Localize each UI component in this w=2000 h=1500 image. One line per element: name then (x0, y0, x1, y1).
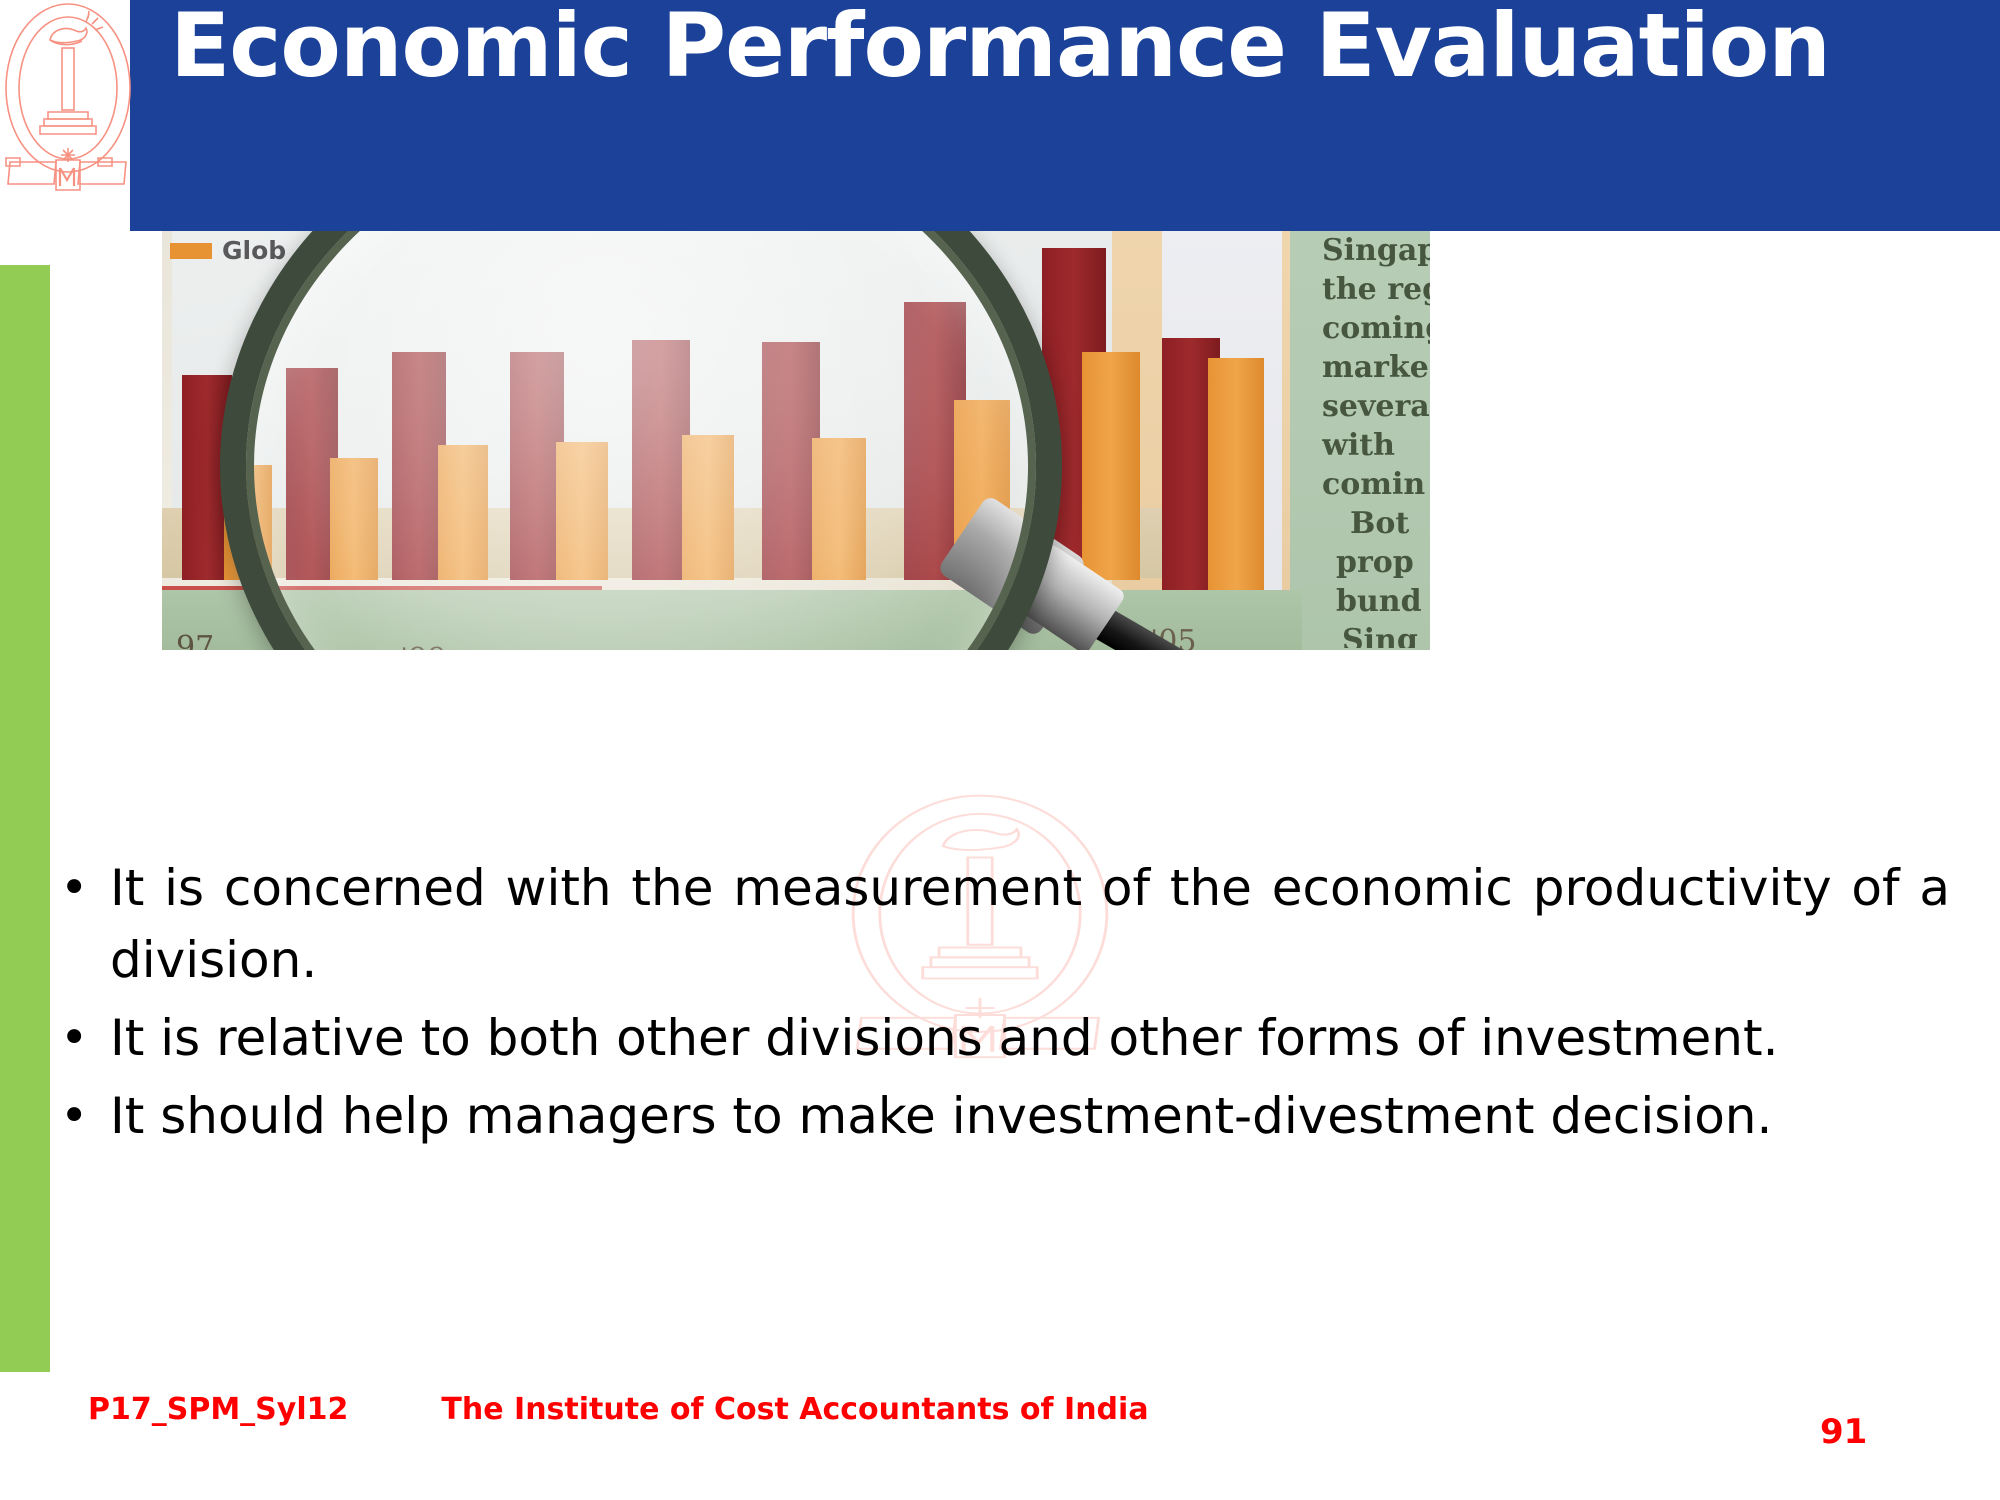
list-item: • It is relative to both other divisions… (52, 1002, 1952, 1074)
news-line-12: Sing (1322, 621, 1430, 648)
page-title-text: Economic Performance Evaluation (170, 0, 1830, 97)
news-line-11: bund (1322, 582, 1430, 621)
news-line-8: comin (1322, 465, 1430, 504)
news-line-3: the reg (1322, 270, 1430, 309)
magnifier-bar-chart-photo: 97 '99 '00 '01 '02 '05 's e propert in B… (162, 190, 1430, 650)
bullet-text: It is concerned with the measurement of … (110, 852, 1952, 996)
institute-logo-icon (2, 0, 134, 192)
photo-year-97: 97 (176, 630, 214, 650)
list-item: • It is concerned with the measurement o… (52, 852, 1952, 996)
photo-newspaper-column: isting Singap the reg coming marke sever… (1322, 192, 1430, 648)
news-line-10: prop (1322, 543, 1430, 582)
bullet-list: • It is concerned with the measurement o… (52, 852, 1952, 1158)
bullet-marker-icon: • (52, 1080, 110, 1152)
news-line-5: marke (1322, 348, 1430, 387)
bullet-marker-icon: • (52, 852, 110, 924)
bullet-marker-icon: • (52, 1002, 110, 1074)
news-line-9: Bot (1322, 504, 1430, 543)
left-accent-bar (0, 265, 50, 1372)
news-line-2: Singap (1322, 231, 1430, 270)
legend-label-orange: Glob (222, 236, 286, 265)
magnifier-lens-icon (220, 190, 1062, 650)
bullet-text: It should help managers to make investme… (110, 1080, 1952, 1152)
title-banner: Economic Performance Evaluation (130, 0, 2000, 231)
legend-swatch-orange-icon (170, 243, 212, 259)
page-title: Economic Performance Evaluation (130, 0, 1870, 100)
news-line-7: with (1322, 426, 1430, 465)
news-line-6: severa (1322, 387, 1430, 426)
news-line-4: coming (1322, 309, 1430, 348)
footer-institute-name: The Institute of Cost Accountants of Ind… (0, 1392, 1590, 1427)
footer-page-number: 91 (1820, 1412, 1940, 1452)
photo-bar-orange-8 (1082, 352, 1140, 580)
list-item: • It should help managers to make invest… (52, 1080, 1952, 1152)
bullet-text: It is relative to both other divisions a… (110, 1002, 1952, 1074)
